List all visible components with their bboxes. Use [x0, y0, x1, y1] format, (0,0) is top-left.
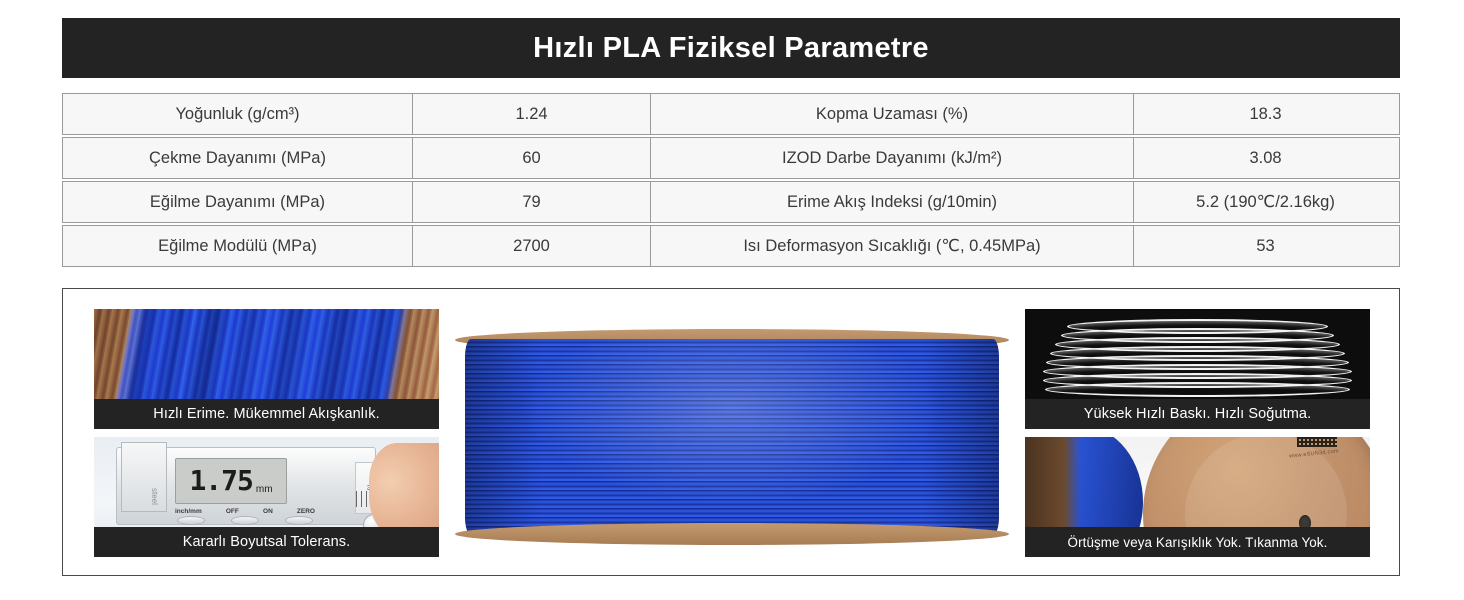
gallery-tile-dimensional-tolerance: steel 1.75 mm inch/mm OFF ON ZERO: [94, 437, 439, 557]
gallery-tile-high-speed-printing: Yüksek Hızlı Baskı. Hızlı Soğutma.: [1025, 309, 1370, 429]
caliper-body-label: steel: [150, 488, 159, 505]
spec-value-tensile-strength: 60: [413, 138, 651, 178]
table-row: Eğilme Dayanımı (MPa) 79 Erime Akış Inde…: [62, 181, 1400, 223]
gallery-tile-no-tangling: www.eSUN3d.com Örtüşme veya Karışıklık Y…: [1025, 437, 1370, 557]
table-row: Çekme Dayanımı (MPa) 60 IZOD Darbe Dayan…: [62, 137, 1400, 179]
caliper-lcd-screen: 1.75 mm: [175, 458, 287, 504]
caliper-button-labels: inch/mm OFF ON ZERO: [175, 508, 315, 515]
caliper-body: steel 1.75 mm inch/mm OFF ON ZERO: [116, 447, 376, 525]
table-row: Eğilme Modülü (MPa) 2700 Isı Deformasyon…: [62, 225, 1400, 267]
spec-value-flexural-strength: 79: [413, 182, 651, 222]
spec-label-flexural-modulus: Eğilme Modülü (MPa): [63, 226, 413, 266]
specification-table: Yoğunluk (g/cm³) 1.24 Kopma Uzaması (%) …: [62, 93, 1400, 267]
spool-flange-bottom: [455, 523, 1009, 545]
spec-label-heat-deflection-temp: Isı Deformasyon Sıcaklığı (℃, 0.45MPa): [651, 226, 1134, 266]
caliper-button-inch-mm: [177, 516, 205, 525]
gallery-caption-fast-melting: Hızlı Erime. Mükemmel Akışkanlık.: [94, 399, 439, 429]
spec-label-tensile-strength: Çekme Dayanımı (MPa): [63, 138, 413, 178]
spec-value-heat-deflection-temp: 53: [1134, 226, 1397, 266]
caliper-button-zero: [285, 516, 313, 525]
spec-label-melt-flow-index: Erime Akış Indeksi (g/10min): [651, 182, 1134, 222]
hand-holding-caliper: [369, 443, 439, 539]
caliper-reading-value: 1.75: [189, 467, 252, 495]
caliper-button-off-on: [231, 516, 259, 525]
spec-value-elongation: 18.3: [1134, 94, 1397, 134]
product-spec-page: Hızlı PLA Fiziksel Parametre Yoğunluk (g…: [0, 0, 1464, 600]
gallery-caption-dimensional-tolerance: Kararlı Boyutsal Tolerans.: [94, 527, 439, 557]
gallery-caption-no-tangling: Örtüşme veya Karışıklık Yok. Tıkanma Yok…: [1025, 527, 1370, 557]
caliper-label-zero: ZERO: [297, 508, 315, 515]
coil-stack: [1043, 319, 1352, 397]
coil-ring: [1045, 382, 1350, 397]
caliper-buttons: [177, 516, 313, 525]
page-title: Hızlı PLA Fiziksel Parametre: [533, 34, 929, 63]
spec-value-density: 1.24: [413, 94, 651, 134]
qr-code-icon: [1297, 437, 1337, 447]
blue-filament-spool-image: [455, 301, 1009, 563]
gallery-column-right: Yüksek Hızlı Baskı. Hızlı Soğutma. www.e…: [1025, 309, 1370, 557]
spool-filament-winding: [465, 339, 999, 535]
spec-value-melt-flow-index: 5.2 (190℃/2.16kg): [1134, 182, 1397, 222]
caliper-label-off: OFF: [226, 508, 239, 515]
spec-value-izod-impact: 3.08: [1134, 138, 1397, 178]
table-row: Yoğunluk (g/cm³) 1.24 Kopma Uzaması (%) …: [62, 93, 1400, 135]
page-title-bar: Hızlı PLA Fiziksel Parametre: [62, 18, 1400, 78]
caliper-reading-unit: mm: [256, 484, 273, 503]
caliper-label-inch-mm: inch/mm: [175, 508, 202, 515]
gallery-column-left: Hızlı Erime. Mükemmel Akışkanlık. steel …: [94, 309, 439, 557]
caliper-label-on: ON: [263, 508, 273, 515]
gallery-caption-high-speed-printing: Yüksek Hızlı Baskı. Hızlı Soğutma.: [1025, 399, 1370, 429]
spec-label-elongation: Kopma Uzaması (%): [651, 94, 1134, 134]
gallery-column-center: [455, 301, 1009, 563]
gallery-tile-fast-melting: Hızlı Erime. Mükemmel Akışkanlık.: [94, 309, 439, 429]
spec-label-flexural-strength: Eğilme Dayanımı (MPa): [63, 182, 413, 222]
spec-label-izod-impact: IZOD Darbe Dayanımı (kJ/m²): [651, 138, 1134, 178]
caliper-jaw: [121, 442, 167, 512]
product-gallery-panel: Hızlı Erime. Mükemmel Akışkanlık. steel …: [62, 288, 1400, 576]
spec-label-density: Yoğunluk (g/cm³): [63, 94, 413, 134]
spec-value-flexural-modulus: 2700: [413, 226, 651, 266]
